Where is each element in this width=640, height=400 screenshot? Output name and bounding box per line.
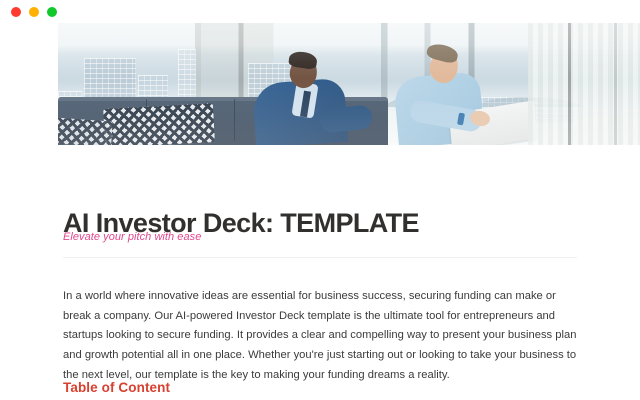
table-of-content-heading: Table of Content (63, 380, 170, 395)
minimize-window-button[interactable] (29, 7, 39, 17)
houndstooth-cushion (103, 103, 215, 145)
close-window-button[interactable] (11, 7, 21, 17)
document-content: AI Investor Deck: TEMPLATE Elevate your … (0, 145, 640, 400)
window-traffic-lights (11, 7, 57, 17)
window-glass-panels (528, 23, 640, 145)
page-subtitle: Elevate your pitch with ease (63, 231, 201, 243)
image-placeholder-icon[interactable] (126, 143, 172, 145)
houndstooth-cushion (58, 117, 113, 145)
section-divider (63, 257, 577, 258)
intro-paragraph: In a world where innovative ideas are es… (63, 287, 578, 385)
maximize-window-button[interactable] (47, 7, 57, 17)
app-window: AI Investor Deck: TEMPLATE Elevate your … (0, 0, 640, 400)
hero-banner-image[interactable] (58, 23, 640, 145)
hero-photo-backdrop (58, 23, 640, 145)
window-titlebar (0, 0, 640, 23)
